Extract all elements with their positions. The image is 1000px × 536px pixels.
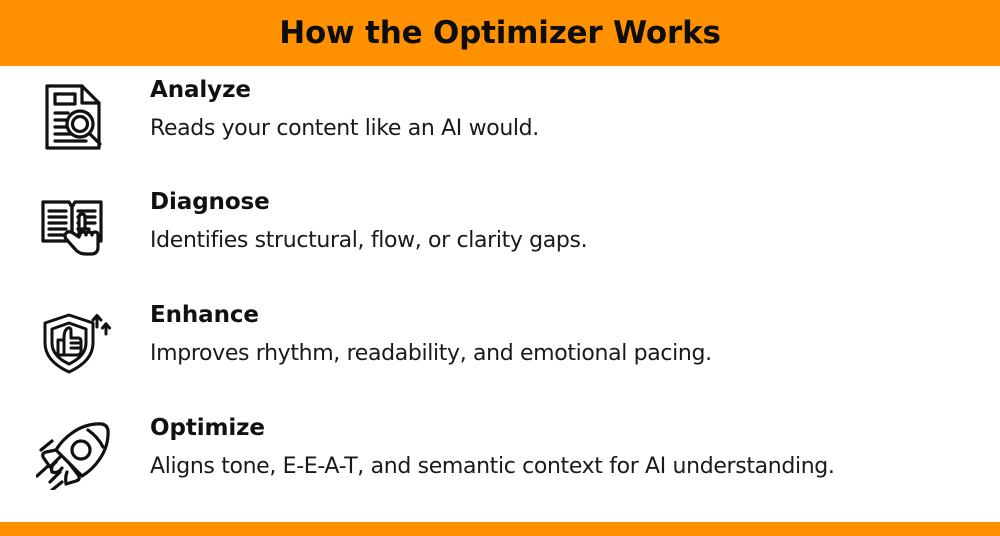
step-title: Optimize xyxy=(150,416,1000,442)
list-item-text: Enhance Improves rhythm, readability, an… xyxy=(150,303,1000,367)
step-description: Improves rhythm, readability, and emotio… xyxy=(150,341,1000,367)
document-magnifier-icon xyxy=(0,78,150,174)
steps-list: Analyze Reads your content like an AI wo… xyxy=(0,66,1000,522)
header-banner: How the Optimizer Works xyxy=(0,0,1000,66)
list-item: Optimize Aligns tone, E-E-A-T, and seman… xyxy=(0,416,1000,528)
footer-banner xyxy=(0,522,1000,536)
step-description: Reads your content like an AI would. xyxy=(150,116,1000,142)
step-title: Analyze xyxy=(150,78,1000,104)
step-title: Diagnose xyxy=(150,190,1000,216)
open-book-hand-icon xyxy=(0,190,150,286)
step-description: Identifies structural, flow, or clarity … xyxy=(150,228,1000,254)
step-title: Enhance xyxy=(150,303,1000,329)
list-item-text: Analyze Reads your content like an AI wo… xyxy=(150,78,1000,142)
list-item: Diagnose Identifies structural, flow, or… xyxy=(0,190,1000,302)
list-item: Enhance Improves rhythm, readability, an… xyxy=(0,303,1000,415)
list-item-text: Optimize Aligns tone, E-E-A-T, and seman… xyxy=(150,416,1000,480)
step-description: Aligns tone, E-E-A-T, and semantic conte… xyxy=(150,454,1000,480)
list-item: Analyze Reads your content like an AI wo… xyxy=(0,78,1000,190)
rocket-icon xyxy=(0,416,150,512)
list-item-text: Diagnose Identifies structural, flow, or… xyxy=(150,190,1000,254)
page-title: How the Optimizer Works xyxy=(279,18,721,49)
shield-thumbsup-icon xyxy=(0,303,150,399)
infographic-canvas: How the Optimizer Works xyxy=(0,0,1000,536)
